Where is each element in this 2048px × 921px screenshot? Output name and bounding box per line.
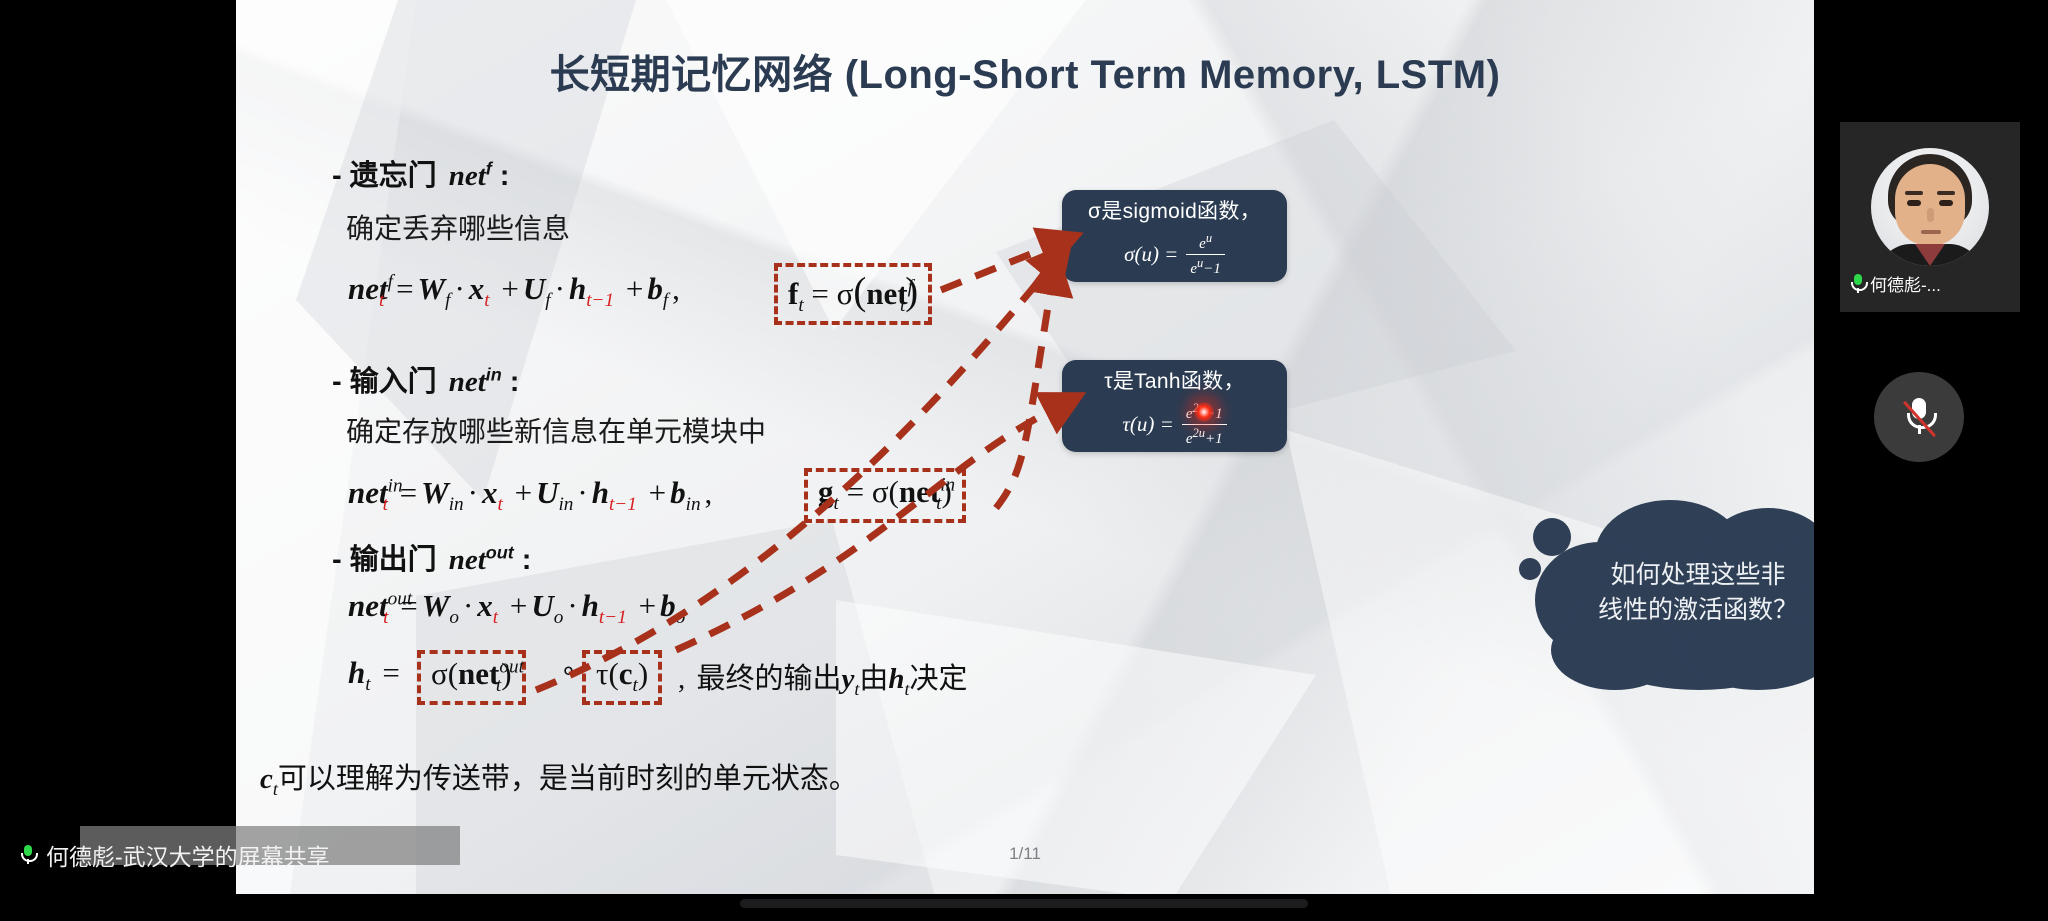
bullet-superscript: out	[486, 542, 514, 562]
avatar-nose	[1927, 208, 1934, 222]
input-gate-boxed-equation: gt = σ(netint)	[804, 468, 966, 523]
bullet-label: 输出门	[350, 544, 437, 576]
sigmoid-card-title: σ是sigmoid函数，	[1088, 195, 1261, 225]
bullet-colon: :	[492, 160, 510, 192]
sigmoid-denominator: eu−1	[1186, 254, 1225, 278]
avatar-brow-right	[1937, 191, 1955, 195]
laser-pointer-dot	[1193, 401, 1215, 423]
bullet-dash: -	[332, 544, 342, 576]
video-rail: 何德彪-...	[1814, 0, 2048, 921]
sigmoid-numerator: eu	[1195, 231, 1216, 254]
microphone-muted-icon	[1906, 398, 1932, 436]
bullet-forget-gate: -遗忘门netf :	[332, 152, 509, 194]
tanh-card-title: τ是Tanh函数，	[1104, 365, 1245, 395]
sigmoid-fraction: eu eu−1	[1186, 231, 1225, 278]
sigmoid-card-formula: σ(u) = eu eu−1	[1124, 231, 1225, 278]
tanh-denominator: e2u+1	[1182, 424, 1227, 448]
tanh-card: τ是Tanh函数， τ(u) = e2u−1 e2u+1	[1062, 360, 1287, 452]
cloud-tail-lobe	[1533, 518, 1571, 556]
output-gate-equation: netoutt =Wo·xt +Uo·ht−1 +bo	[348, 588, 685, 629]
avatar-mouth	[1921, 230, 1941, 234]
avatar-brow-left	[1905, 191, 1923, 195]
bullet-colon: :	[502, 366, 520, 398]
screen-root: 长短期记忆网络 (Long-Short Term Memory, LSTM) -…	[0, 0, 2048, 921]
bullet-dash: -	[332, 366, 342, 398]
bullet-output-gate: -输出门netout :	[332, 536, 531, 578]
bullet-symbol: net	[449, 160, 486, 192]
thought-line-1: 如何处理这些非	[1561, 558, 1814, 593]
screen-share-status-text: 何德彪-武汉大学的屏幕共享	[46, 838, 330, 872]
footer-note: ct可以理解为传送带，是当前时刻的单元状态。	[260, 755, 858, 800]
participant-name: 何德彪-...	[1870, 271, 1941, 296]
participant-name-row: 何德彪-...	[1850, 271, 2014, 296]
bullet-symbol: net	[449, 366, 486, 398]
sigmoid-card: σ是sigmoid函数， σ(u) = eu eu−1	[1062, 190, 1287, 282]
final-equation-tail: , 最终的输出yt由ht决定	[674, 655, 968, 700]
participant-tile[interactable]: 何德彪-...	[1840, 122, 2020, 312]
microphone-icon	[20, 845, 35, 865]
input-gate-equation: netint =Win·xt +Uin·ht−1 +bin,	[348, 475, 716, 516]
avatar	[1871, 148, 1989, 266]
sigmoid-func-lhs: σ(u) =	[1124, 242, 1178, 267]
hadamard-operator: ∘	[560, 655, 577, 686]
forget-gate-equation: netft =Wf·xt +Uf·ht−1 +bf,	[348, 271, 684, 312]
avatar-eye-right	[1939, 200, 1953, 206]
shared-slide: 长短期记忆网络 (Long-Short Term Memory, LSTM) -…	[236, 0, 1814, 894]
final-equation-box2: τ(ct)	[582, 650, 662, 705]
avatar-eye-left	[1907, 200, 1921, 206]
bullet-superscript: in	[486, 364, 502, 384]
tanh-func-lhs: τ(u) =	[1122, 412, 1173, 437]
bullet-label: 遗忘门	[350, 160, 437, 192]
microphone-icon	[1850, 274, 1865, 294]
final-equation-lhs: ht =	[348, 655, 404, 696]
screen-share-status: 何德彪-武汉大学的屏幕共享	[20, 838, 330, 872]
input-gate-description: 确定存放哪些新信息在单元模块中	[346, 410, 766, 450]
forget-gate-description: 确定丢弃哪些信息	[346, 207, 570, 247]
slide-title: 长短期记忆网络 (Long-Short Term Memory, LSTM)	[236, 42, 1814, 100]
final-equation-box1: σ(netoutt)	[417, 650, 526, 705]
thought-line-2: 线性的激活函数？	[1561, 593, 1814, 628]
forget-gate-boxed-equation: ft = σ(netft)	[774, 263, 932, 325]
page-indicator: 1/11	[1009, 844, 1041, 864]
left-black-panel	[0, 0, 236, 921]
cloud-tail-lobe	[1519, 558, 1541, 580]
bullet-colon: :	[514, 544, 532, 576]
bullet-dash: -	[332, 160, 342, 192]
bullet-symbol: net	[449, 544, 486, 576]
mute-toggle-button[interactable]	[1874, 372, 1964, 462]
bullet-label: 输入门	[350, 366, 437, 398]
decorative-facet	[836, 600, 1316, 894]
thought-bubble-text: 如何处理这些非 线性的激活函数？	[1561, 558, 1814, 627]
thought-bubble: 如何处理这些非 线性的激活函数？	[1533, 500, 1814, 690]
bullet-input-gate: -输入门netin :	[332, 358, 519, 400]
home-indicator	[740, 899, 1308, 908]
